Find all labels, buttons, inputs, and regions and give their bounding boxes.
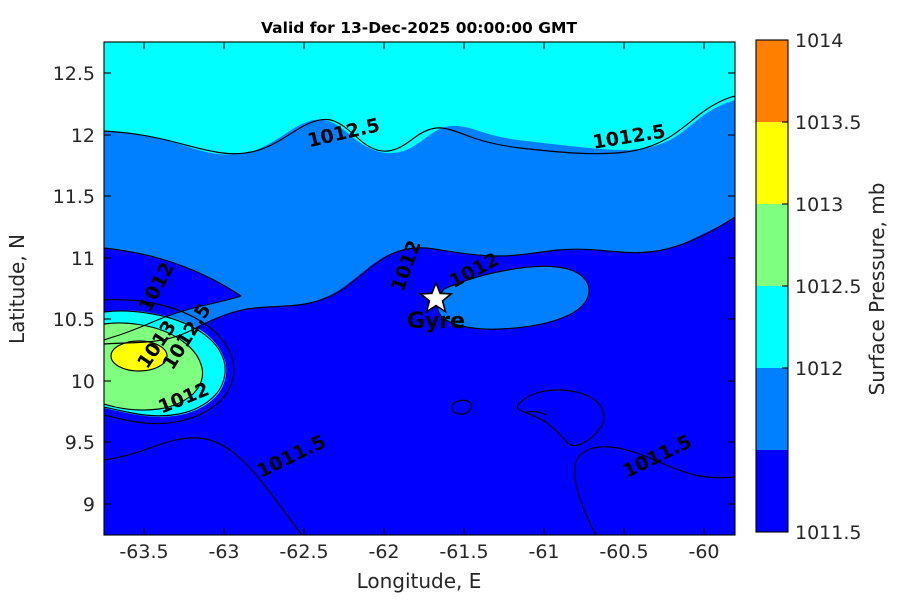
colorbar-tick-label: 1012.5 [795,276,861,298]
colorbar-swatch-1012-1012-5 [756,286,788,368]
y-tick-label: 12.5 [53,63,95,85]
colorbar-tick-label: 1012 [795,358,843,380]
x-tick-label: -62 [368,541,399,563]
plot-area: 1012.5 1012.5 1012 1012.5 1013 1012 1012… [5,42,735,593]
colorbar-swatch-1013-1013-5 [756,122,788,204]
y-tick-label: 10 [71,371,95,393]
colorbar-label: Surface Pressure, mb [865,183,889,396]
contour-figure: Valid for 13-Dec-2025 00:00:00 GMT [0,0,900,600]
colorbar-swatch-1012-5-1013 [756,204,788,286]
x-tick-label: -60 [688,541,719,563]
x-tick-label: -60.5 [599,541,648,563]
y-tick-label: 9 [83,494,95,516]
y-tick-label: 12 [71,125,95,147]
colorbar-swatch-below-1011-5 [756,450,788,532]
y-tick-label: 10.5 [53,309,95,331]
y-tick-label: 11 [71,248,95,270]
contour-field: 1012.5 1012.5 1012 1012.5 1013 1012 1012… [104,42,735,535]
colorbar-tick-label: 1014 [795,30,843,52]
y-axis-label: Latitude, N [5,234,29,344]
colorbar-swatch-1013-5-1014 [756,40,788,122]
x-tick-label: -63 [208,541,239,563]
colorbar-swatch-1011-5-1012 [756,368,788,450]
x-tick-label: -61.5 [439,541,488,563]
x-tick-label: -62.5 [279,541,328,563]
colorbar-tick-label: 1013 [795,194,843,216]
colorbar-tick-label: 1011.5 [795,522,861,544]
colorbar-tick-label: 1013.5 [795,112,861,134]
gyre-label: Gyre [407,309,465,334]
x-axis-label: Longitude, E [357,569,482,593]
figure-title: Valid for 13-Dec-2025 00:00:00 GMT [261,19,577,37]
y-tick-label: 9.5 [65,432,95,454]
y-tick-label: 11.5 [53,186,95,208]
x-tick-label: -61 [528,541,559,563]
x-tick-label: -63.5 [119,541,168,563]
figure-root: Valid for 13-Dec-2025 00:00:00 GMT [0,0,900,600]
